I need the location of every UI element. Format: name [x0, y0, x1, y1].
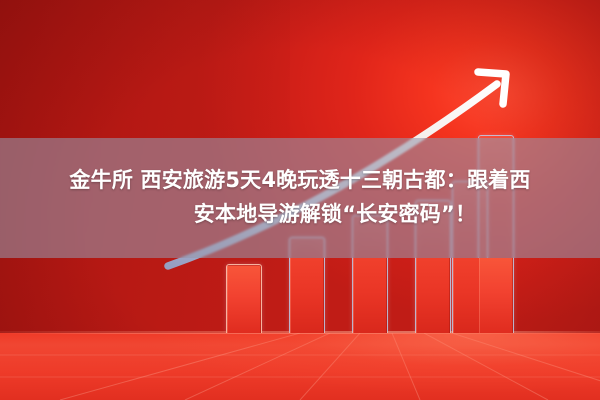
bar-1-base — [227, 266, 261, 333]
bar-2-base — [290, 258, 324, 333]
caption-text-block: 金牛所 西安旅游5天4晚玩透十三朝古都：跟着西 安本地导游解锁“长安密码”！ — [0, 138, 600, 258]
perspective-floor-grid — [0, 333, 600, 400]
thumbnail-image: 金牛所 西安旅游5天4晚玩透十三朝古都：跟着西 安本地导游解锁“长安密码”！ — [0, 0, 600, 400]
bar-3-base — [353, 258, 387, 333]
bar-4-base — [416, 258, 450, 333]
bar-6-base — [479, 258, 513, 333]
caption-line-2: 安本地导游解锁“长安密码”！ — [124, 201, 476, 229]
caption-line-1: 金牛所 西安旅游5天4晚玩透十三朝古都：跟着西 — [69, 167, 530, 195]
